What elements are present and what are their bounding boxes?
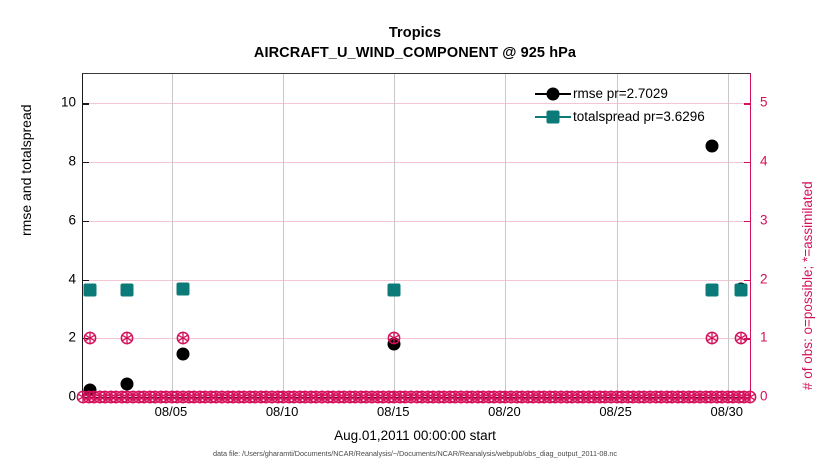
gridline-horizontal bbox=[83, 162, 750, 163]
legend-label: totalspread pr=3.6296 bbox=[573, 109, 705, 124]
gridline-vertical bbox=[283, 74, 284, 397]
obs-marker bbox=[82, 331, 97, 346]
y-axis-tick-label: 4 bbox=[36, 271, 76, 286]
totalspread-point bbox=[388, 283, 401, 296]
y-axis-tick-label: 0 bbox=[36, 389, 76, 404]
obs-marker-baseline bbox=[743, 390, 758, 405]
chart-title: Tropics bbox=[0, 24, 830, 43]
y-axis-tick bbox=[83, 162, 89, 163]
chart-legend: rmse pr=2.7029totalspread pr=3.6296 bbox=[533, 82, 748, 128]
y2-axis-tick bbox=[744, 221, 750, 222]
y-axis-tick-label: 10 bbox=[36, 95, 76, 110]
y-axis-title: rmse and totalspread bbox=[18, 104, 34, 236]
y-axis-tick bbox=[83, 103, 89, 104]
y2-axis-tick-label: 2 bbox=[760, 271, 800, 286]
y2-axis-tick bbox=[744, 162, 750, 163]
rmse-point bbox=[121, 377, 134, 390]
chart-subtitle: AIRCRAFT_U_WIND_COMPONENT @ 925 hPa bbox=[0, 43, 830, 63]
filled-square-icon bbox=[547, 110, 560, 123]
chart-title-block: Tropics AIRCRAFT_U_WIND_COMPONENT @ 925 … bbox=[0, 24, 830, 63]
legend-marker bbox=[533, 107, 573, 127]
obs-marker bbox=[387, 331, 402, 346]
y2-axis-tick-label: 3 bbox=[760, 212, 800, 227]
y2-axis-tick-label: 4 bbox=[760, 154, 800, 169]
legend-item[interactable]: totalspread pr=3.6296 bbox=[533, 105, 748, 128]
y-axis-tick-label: 8 bbox=[36, 154, 76, 169]
x-axis-tick-label: 08/10 bbox=[247, 404, 317, 419]
figure-canvas: Tropics AIRCRAFT_U_WIND_COMPONENT @ 925 … bbox=[0, 0, 830, 470]
gridline-vertical bbox=[505, 74, 506, 397]
x-axis-tick-label: 08/25 bbox=[581, 404, 651, 419]
obs-marker bbox=[705, 331, 720, 346]
rmse-point bbox=[177, 348, 190, 361]
data-file-note: data file: /Users/gharamti/Documents/NCA… bbox=[0, 449, 830, 458]
gridline-horizontal bbox=[83, 280, 750, 281]
x-axis-tick-label: 08/30 bbox=[692, 404, 762, 419]
y-axis-tick bbox=[83, 280, 89, 281]
y2-axis-title: # of obs: o=possible; *=assimilated bbox=[800, 181, 815, 390]
obs-marker bbox=[176, 331, 191, 346]
totalspread-point bbox=[83, 283, 96, 296]
obs-marker bbox=[120, 331, 135, 346]
totalspread-point bbox=[177, 282, 190, 295]
x-axis-tick-label: 08/20 bbox=[469, 404, 539, 419]
x-axis-tick-label: 08/05 bbox=[136, 404, 206, 419]
obs-marker bbox=[734, 331, 749, 346]
x-axis-tick-label: 08/15 bbox=[358, 404, 428, 419]
y-axis-tick-label: 2 bbox=[36, 330, 76, 345]
x-axis-title: Aug.01,2011 00:00:00 start bbox=[0, 428, 830, 443]
y2-axis-tick-label: 5 bbox=[760, 95, 800, 110]
totalspread-point bbox=[121, 283, 134, 296]
gridline-vertical bbox=[172, 74, 173, 397]
rmse-point bbox=[706, 139, 719, 152]
legend-label: rmse pr=2.7029 bbox=[573, 86, 668, 101]
y2-axis-tick-label: 1 bbox=[760, 330, 800, 345]
y-axis-tick bbox=[83, 221, 89, 222]
y2-axis-tick-label: 0 bbox=[760, 389, 800, 404]
totalspread-point bbox=[706, 283, 719, 296]
filled-circle-icon bbox=[547, 87, 560, 100]
legend-item[interactable]: rmse pr=2.7029 bbox=[533, 82, 748, 105]
y-axis-tick-label: 6 bbox=[36, 212, 76, 227]
gridline-horizontal bbox=[83, 221, 750, 222]
y2-axis-tick bbox=[744, 280, 750, 281]
totalspread-point bbox=[735, 283, 748, 296]
legend-marker bbox=[533, 84, 573, 104]
